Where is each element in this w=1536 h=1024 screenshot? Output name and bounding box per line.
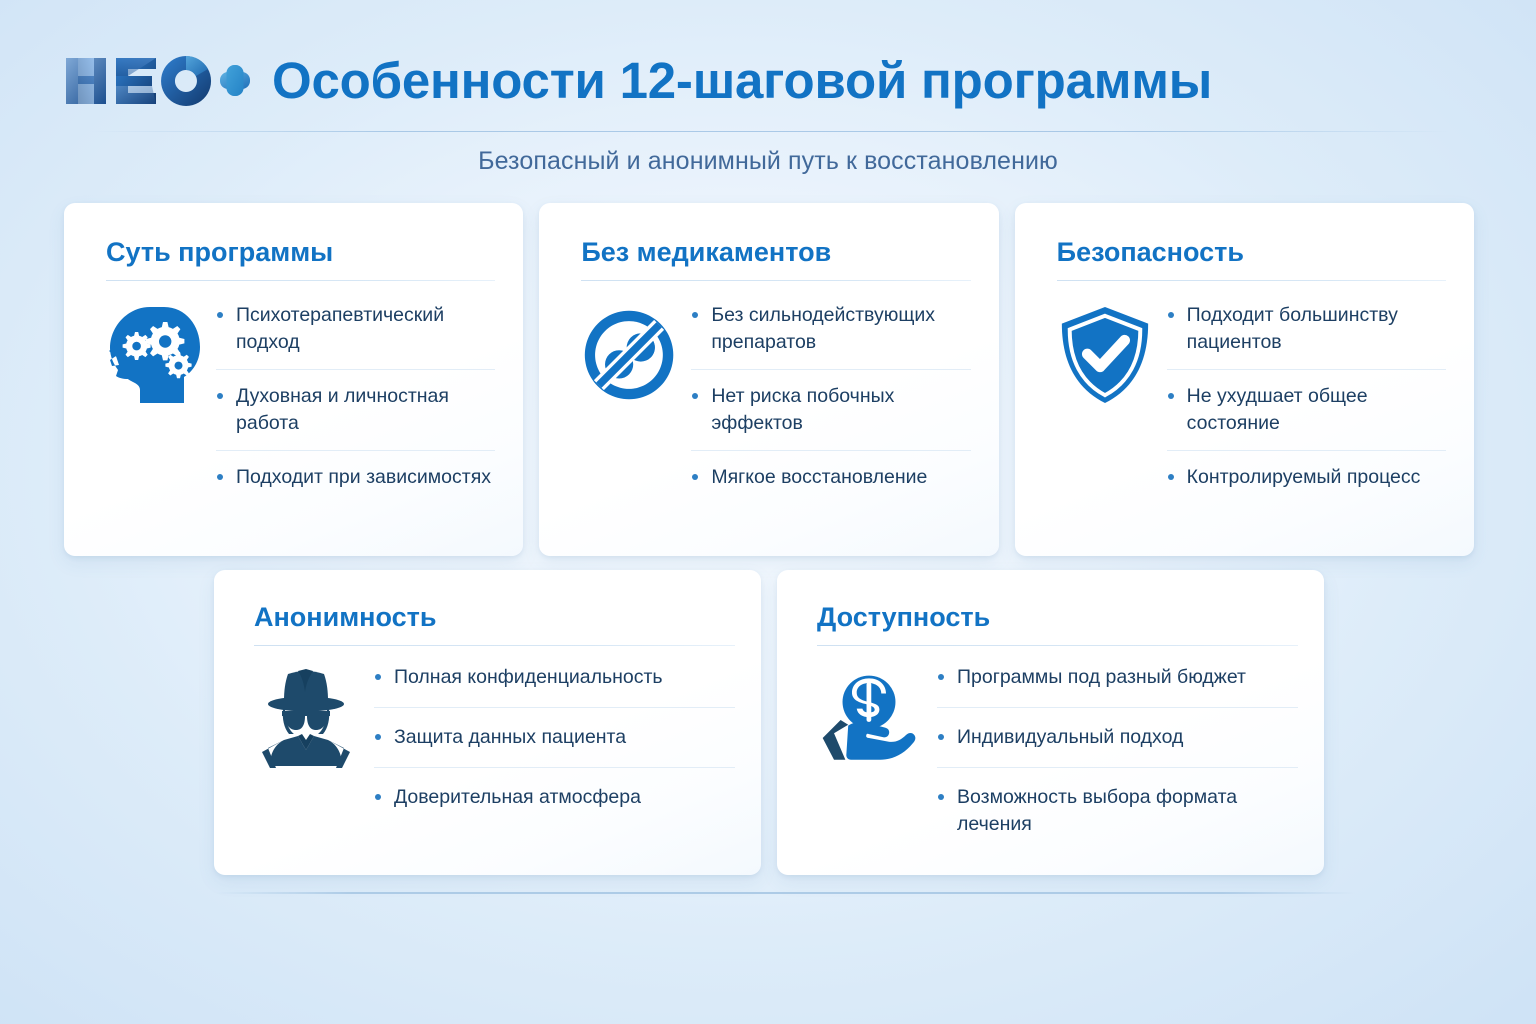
list-item: Мягкое восстановление xyxy=(691,464,970,491)
list-item: Индивидуальный подход xyxy=(937,724,1298,768)
bullet-list: Без сильнодействующих препаратов Нет рис… xyxy=(691,300,970,491)
list-item: Программы под разный бюджет xyxy=(937,664,1298,708)
list-item: Подходит при зависимостях xyxy=(216,464,495,491)
card-title: Анонимность xyxy=(254,600,735,634)
list-item: Нет риска побочных эффектов xyxy=(691,383,970,451)
card-bez-medikamentov[interactable]: Без медикаментов xyxy=(539,203,998,556)
card-bezopasnost[interactable]: Безопасность Подходит большинству пациен… xyxy=(1015,203,1474,556)
list-item: Доверительная атмосфера xyxy=(374,784,735,827)
card-sut-programmy[interactable]: Суть программы Психотерапе xyxy=(64,203,523,556)
brand-logo-icon xyxy=(64,52,252,110)
bullet-list: Психотерапевтический подход Духовная и л… xyxy=(216,300,495,491)
list-item: Подходит большинству пациентов xyxy=(1167,302,1446,370)
list-item: Психотерапевтический подход xyxy=(216,302,495,370)
card-title-divider xyxy=(1057,280,1446,281)
shield-check-icon xyxy=(1057,304,1153,406)
list-item: Контролируемый процесс xyxy=(1167,464,1446,491)
card-row-top: Суть программы Психотерапе xyxy=(64,203,1474,556)
no-pills-icon xyxy=(581,304,677,406)
list-item: Возможность выбора формата лечения xyxy=(937,784,1298,854)
head-gears-icon xyxy=(106,304,202,406)
list-item: Защита данных пациента xyxy=(374,724,735,768)
footer-divider xyxy=(215,892,1355,894)
card-title: Доступность xyxy=(817,600,1298,634)
card-title: Безопасность xyxy=(1057,235,1446,269)
card-row-bottom: Анонимность xyxy=(214,570,1324,875)
anonymous-person-icon xyxy=(254,664,358,776)
header-divider xyxy=(90,131,1450,132)
card-title-divider xyxy=(581,280,970,281)
list-item: Духовная и личностная работа xyxy=(216,383,495,451)
page-subtitle: Безопасный и анонимный путь к восстановл… xyxy=(0,147,1536,176)
card-title: Суть программы xyxy=(106,235,495,269)
list-item: Не ухудшает общее состояние xyxy=(1167,383,1446,451)
page-title: Особенности 12-шаговой программы xyxy=(272,50,1212,112)
bullet-list: Подходит большинству пациентов Не ухудша… xyxy=(1167,300,1446,491)
card-title-divider xyxy=(254,645,735,646)
card-title: Без медикаментов xyxy=(581,235,970,269)
hand-coin-icon xyxy=(817,664,921,776)
bullet-list: Программы под разный бюджет Индивидуальн… xyxy=(937,662,1298,870)
list-item: Без сильнодействующих препаратов xyxy=(691,302,970,370)
card-title-divider xyxy=(817,645,1298,646)
page-header: Особенности 12-шаговой программы xyxy=(0,0,1536,132)
bullet-list: Полная конфиденциальность Защита данных … xyxy=(374,662,735,843)
card-anonimnost[interactable]: Анонимность xyxy=(214,570,761,875)
card-title-divider xyxy=(106,280,495,281)
list-item: Полная конфиденциальность xyxy=(374,664,735,708)
card-dostupnost[interactable]: Доступность Программы под разный бюджет … xyxy=(777,570,1324,875)
